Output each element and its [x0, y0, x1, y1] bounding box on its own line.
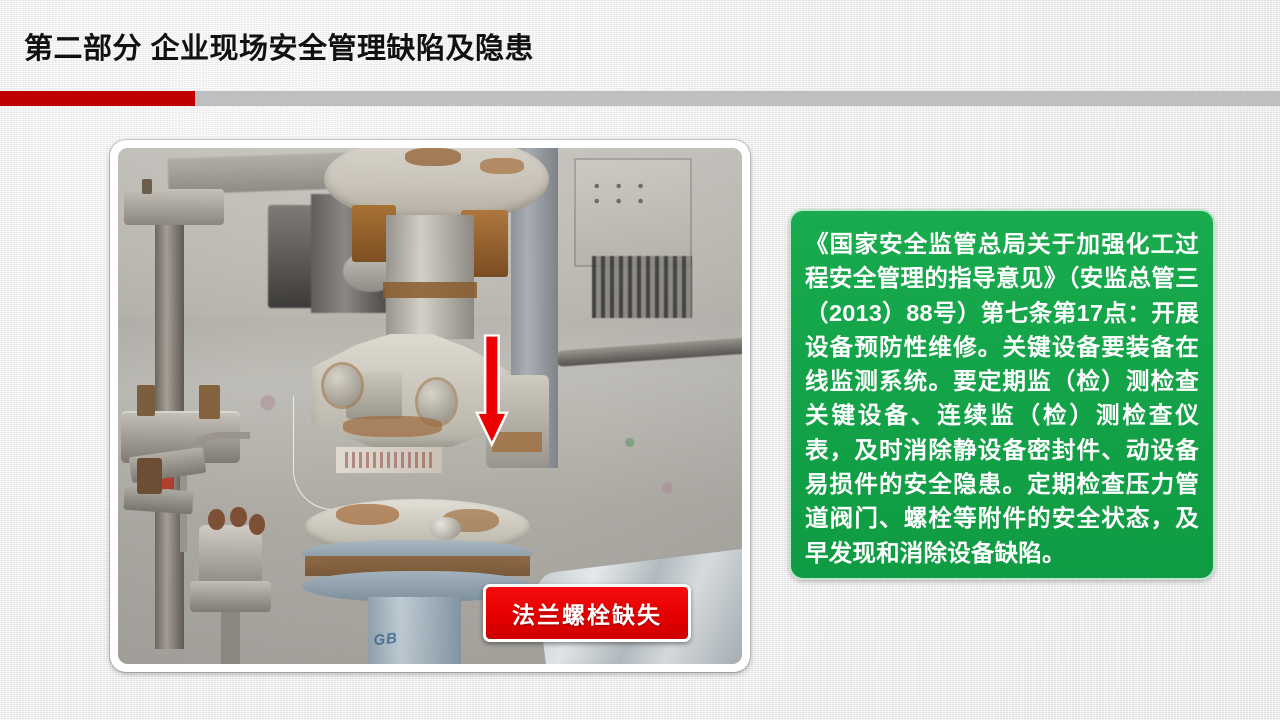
red-down-arrow-icon	[475, 334, 509, 448]
site-photo: GB 法兰螺栓缺失	[118, 148, 742, 664]
defect-caption-label: 法兰螺栓缺失	[483, 584, 691, 642]
regulation-callout-box: 《国家安全监管总局关于加强化工过程安全管理的指导意见》（安监总管三（2013）8…	[789, 209, 1215, 580]
divider-red-segment	[0, 91, 195, 106]
divider-grey-segment	[195, 91, 1280, 106]
header-divider	[0, 91, 1280, 106]
page-title: 第二部分 企业现场安全管理缺陷及隐患	[24, 25, 534, 67]
photo-card: GB 法兰螺栓缺失	[110, 140, 750, 672]
regulation-text: 《国家安全监管总局关于加强化工过程安全管理的指导意见》（安监总管三（2013）8…	[805, 227, 1199, 570]
